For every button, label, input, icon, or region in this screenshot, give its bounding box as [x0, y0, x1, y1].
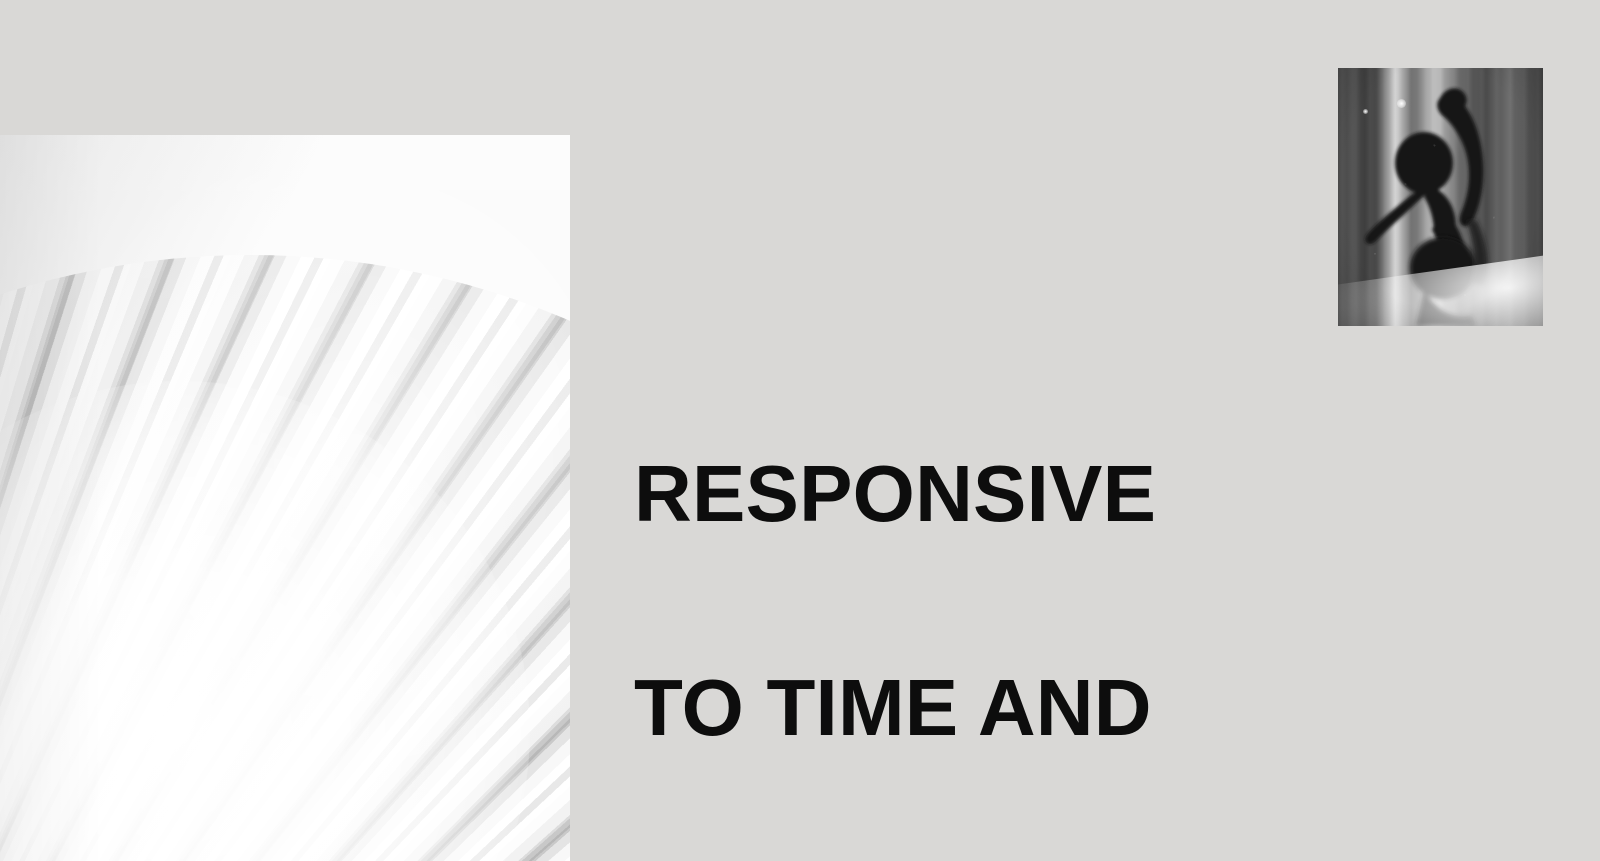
dancer-photo	[1338, 68, 1543, 326]
architecture-photo	[0, 135, 570, 861]
architecture-vignette	[0, 135, 570, 861]
page-title: RESPONSIVE TO TIME AND TRENDS	[634, 333, 1334, 861]
dancer-photo-vignette	[1338, 68, 1543, 326]
headline-line-1: RESPONSIVE	[634, 440, 1334, 547]
slide-canvas: RESPONSIVE TO TIME AND TRENDS	[0, 0, 1600, 861]
headline-line-2: TO TIME AND	[634, 654, 1334, 761]
